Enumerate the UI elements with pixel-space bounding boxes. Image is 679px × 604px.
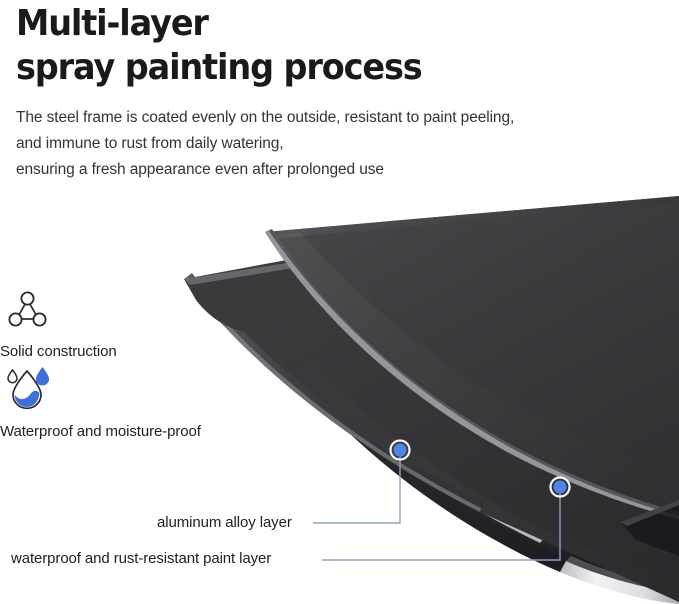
- callout-line-paint: [322, 490, 560, 560]
- callout-label-paint-layer: waterproof and rust-resistant paint laye…: [11, 550, 271, 567]
- infographic-canvas: Multi-layer spray painting process The s…: [0, 0, 679, 604]
- callout-overlay: [0, 0, 679, 604]
- callout-line-aluminum: [313, 452, 400, 523]
- callout-label-aluminum-alloy-layer: aluminum alloy layer: [157, 514, 292, 531]
